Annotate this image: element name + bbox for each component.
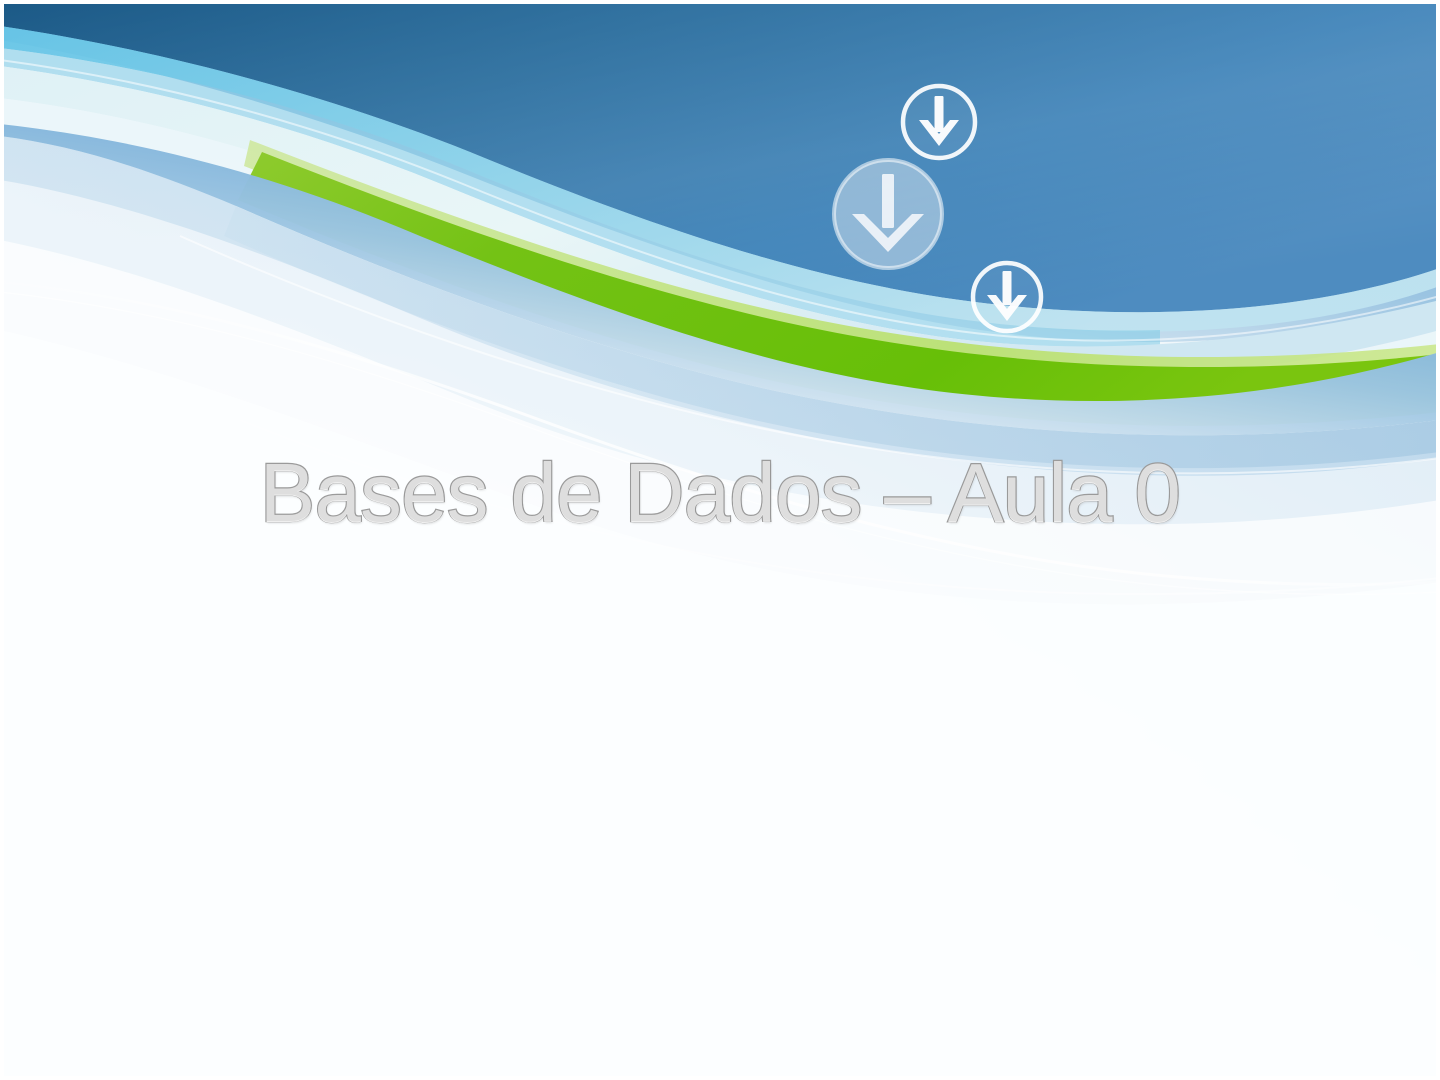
page-title: Bases de Dados – Aula 0 bbox=[260, 448, 1181, 538]
download-arrow-small-bottom-icon bbox=[963, 253, 1051, 341]
slide-title-block: Bases de Dados – Aula 0 bbox=[0, 448, 1440, 538]
presentation-slide: Bases de Dados – Aula 0 bbox=[0, 0, 1440, 1080]
wave-decoration bbox=[0, 0, 1440, 1080]
download-arrow-large-center-icon bbox=[826, 152, 950, 276]
